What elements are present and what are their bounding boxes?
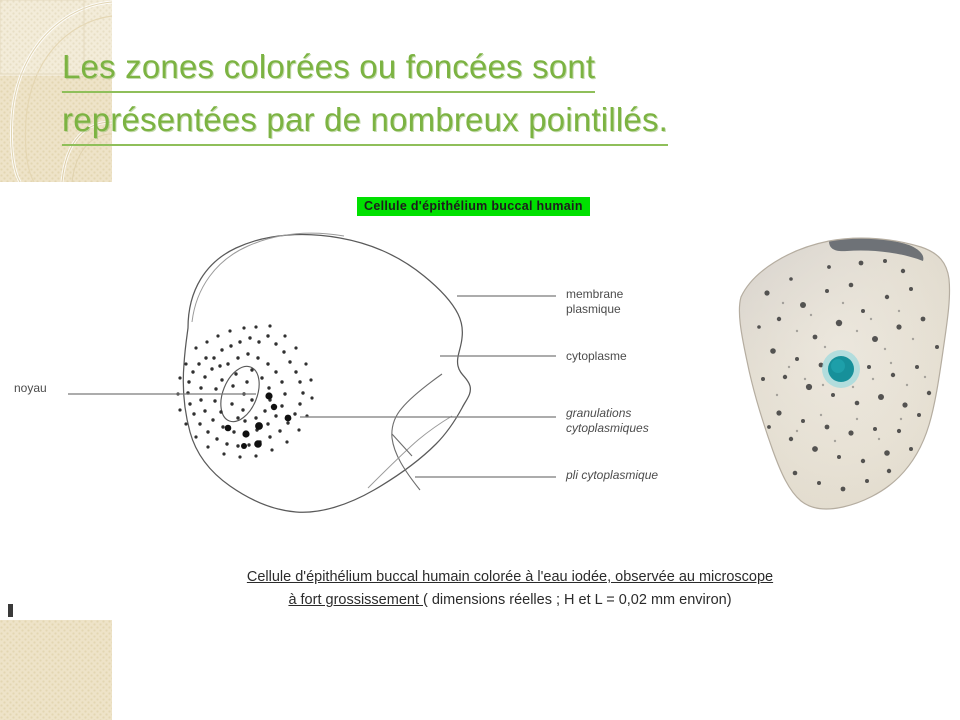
caption-line-1: Cellule d'épithélium buccal humain color… [130, 566, 890, 589]
slide-canvas: Les zones colorées ou foncées sont repré… [0, 0, 960, 720]
micrograph-cell-body [733, 227, 955, 515]
label-noyau: noyau [14, 381, 47, 396]
caption-line-2-plain: ( dimensions réelles ; H et L = 0,02 mm … [423, 592, 732, 608]
decorative-corner-bottom [0, 620, 112, 720]
title-line-1: Les zones colorées ou foncées sont [62, 44, 595, 93]
label-membrane-line2: plasmique [566, 302, 623, 317]
caption-line-2-underlined: à fort grossissement [288, 592, 423, 608]
label-pli-cytoplasmique: pli cytoplasmique [566, 468, 658, 483]
micrograph-svg [733, 227, 955, 515]
page-marker [8, 604, 13, 617]
caption-line-2: à fort grossissement ( dimensions réelle… [130, 589, 890, 612]
label-cytoplasme: cytoplasme [566, 349, 627, 364]
label-granulations-line1: granulations [566, 406, 649, 421]
micrograph-photo [733, 227, 955, 515]
micrograph-nucleus-core [831, 359, 845, 373]
label-granulations-cytoplasmiques: granulations cytoplasmiques [566, 406, 649, 436]
label-membrane-line1: membrane [566, 287, 623, 302]
label-granulations-line2: cytoplasmiques [566, 421, 649, 436]
label-membrane-plasmique: membrane plasmique [566, 287, 623, 317]
page-title: Les zones colorées ou foncées sont repré… [62, 44, 872, 150]
title-line-2: représentées par de nombreux pointillés. [62, 97, 668, 146]
figure-heading-highlighted: Cellule d'épithélium buccal humain [357, 197, 590, 216]
figure-caption: Cellule d'épithélium buccal humain color… [130, 566, 890, 612]
decorative-block-svg [0, 620, 112, 720]
cell-outline [183, 235, 470, 513]
caption-line-1-text: Cellule d'épithélium buccal humain color… [247, 569, 773, 585]
